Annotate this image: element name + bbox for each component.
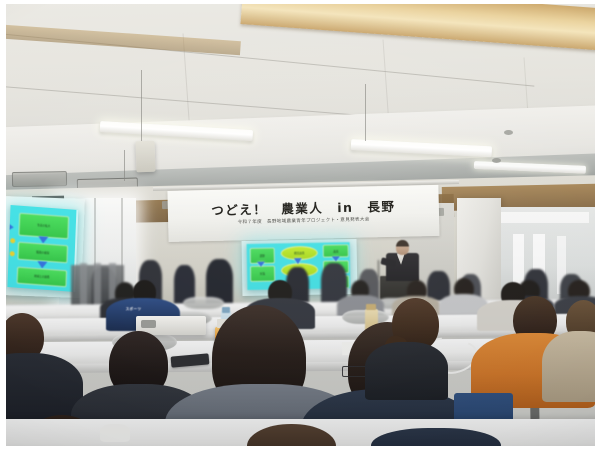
cup-on-table xyxy=(100,424,129,442)
slide-box-label: 生産の拡大 xyxy=(20,222,68,229)
slide-arrow-down-icon xyxy=(295,259,303,265)
attendee-beige-coat xyxy=(542,331,595,402)
ceiling-hanging-wire xyxy=(365,84,366,141)
bottle-cap xyxy=(366,304,376,310)
slide-box: 対策 xyxy=(251,266,276,282)
conference-hall-scene: つどえ！ 農業人 in 長野 令和７年度 長野地域農業青年プロジェクト・意見発表… xyxy=(6,4,595,446)
photograph-frame: つどえ！ 農業人 in 長野 令和７年度 長野地域農業青年プロジェクト・意見発表… xyxy=(0,0,600,451)
slide-ellipse-label: 経営改善 xyxy=(282,251,317,256)
ceiling-hanging-wire xyxy=(124,150,125,181)
bottle-cap xyxy=(222,307,230,312)
eyeglasses-icon xyxy=(342,366,368,377)
slide-box: 生産の拡大 xyxy=(19,212,69,239)
jacket-back-text: スポーツ xyxy=(126,307,142,312)
projector-lens-icon xyxy=(141,320,155,328)
slide-box-label: 課題 xyxy=(251,254,274,258)
slide-arrow-down-icon xyxy=(332,257,340,262)
ceiling-hanging-wire xyxy=(141,70,142,141)
wall-notice-board xyxy=(501,212,589,223)
left-projection-screen: 生産の拡大 販路の確保 地域との連携 xyxy=(7,205,78,292)
banner-subtitle: 令和７年度 長野地域農業青年プロジェクト・意見発表大会 xyxy=(237,216,369,225)
slide-arrow-down-icon xyxy=(258,262,266,267)
slide-bullet xyxy=(10,238,15,243)
slide-box: 地域との連携 xyxy=(17,266,67,287)
attendee-shoulders xyxy=(365,342,447,399)
slide-box-label: 地域との連携 xyxy=(18,273,66,280)
presenter-head xyxy=(396,240,409,254)
metal-tray xyxy=(183,297,224,308)
ceiling-projector-mount xyxy=(135,141,155,173)
ceiling-speaker-icon xyxy=(504,130,513,135)
slide-box-label: 対策 xyxy=(252,272,275,276)
stacked-chairs xyxy=(80,263,87,309)
ceiling-air-vent xyxy=(12,171,67,187)
microphone-stand xyxy=(378,260,379,278)
stacked-chairs xyxy=(94,263,101,309)
slide-box-label: 販路の確保 xyxy=(19,249,67,256)
event-banner: つどえ！ 農業人 in 長野 令和７年度 長野地域農業青年プロジェクト・意見発表… xyxy=(167,185,439,242)
slide-bullet xyxy=(9,251,14,256)
slide-box-label: 品質 xyxy=(324,250,348,254)
slide-box: 販路の確保 xyxy=(18,242,68,264)
ceiling-speaker-icon xyxy=(492,158,501,163)
